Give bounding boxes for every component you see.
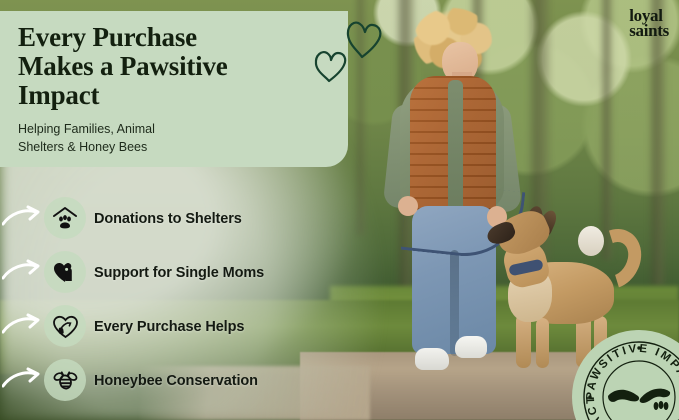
feature-label: Support for Single Moms (94, 265, 264, 281)
feature-icon-badge (44, 359, 86, 401)
subheadline: Helping Families, Animal Shelters & Hone… (18, 120, 330, 156)
list-item: Honeybee Conservation (0, 354, 300, 408)
status-badge: PAWSITIVE IMPACT PAWSITIVE IMPACT (572, 330, 679, 420)
feature-label: Every Purchase Helps (94, 319, 244, 335)
arrow-right-icon (2, 258, 42, 286)
headline-line-1: Every Purchase (18, 23, 330, 52)
headline-line-2: Makes a Pawsitive (18, 52, 330, 81)
subheadline-line-1: Helping Families, Animal (18, 120, 330, 138)
arrow-right-icon (2, 366, 42, 394)
arrow-right-icon (2, 312, 42, 340)
subheadline-line-2: Shelters & Honey Bees (18, 138, 330, 156)
promo-banner: Every Purchase Makes a Pawsitive Impact … (0, 0, 679, 420)
bee-icon (52, 367, 79, 394)
list-item: Every Purchase Helps (0, 300, 300, 354)
heart-doodles (300, 18, 384, 110)
dog-leg (536, 318, 549, 368)
headline-card: Every Purchase Makes a Pawsitive Impact … (0, 11, 348, 167)
dog-leg (516, 314, 531, 368)
heart-hand-icon (52, 313, 79, 340)
arrow-right-icon (2, 204, 42, 232)
dog-tail-tip (578, 226, 604, 256)
woman-sneaker (455, 336, 487, 358)
brand-logo[interactable]: loyal saints (629, 8, 669, 38)
feature-icon-badge (44, 197, 86, 239)
logo-line-2: saints (629, 23, 669, 38)
tree-trunk (600, 0, 614, 260)
heart-doodle-icon (300, 18, 384, 110)
pawsitive-impact-stamp-icon: PAWSITIVE IMPACT PAWSITIVE IMPACT (572, 330, 679, 420)
feature-icon-badge (44, 305, 86, 347)
hand-and-paw-icon (608, 389, 670, 410)
feature-label: Honeybee Conservation (94, 373, 258, 389)
impact-feature-list: Donations to Shelters Support for Single… (0, 192, 300, 408)
headline-line-3: Impact (18, 81, 330, 110)
woman-sneaker (415, 348, 449, 370)
list-item: Support for Single Moms (0, 246, 300, 300)
heart-mother-child-icon (52, 259, 78, 285)
feature-icon-badge (44, 251, 86, 293)
feature-label: Donations to Shelters (94, 211, 242, 227)
house-paw-icon (52, 205, 78, 231)
list-item: Donations to Shelters (0, 192, 300, 246)
page-title: Every Purchase Makes a Pawsitive Impact (18, 23, 330, 110)
tree-trunk (648, 0, 668, 286)
